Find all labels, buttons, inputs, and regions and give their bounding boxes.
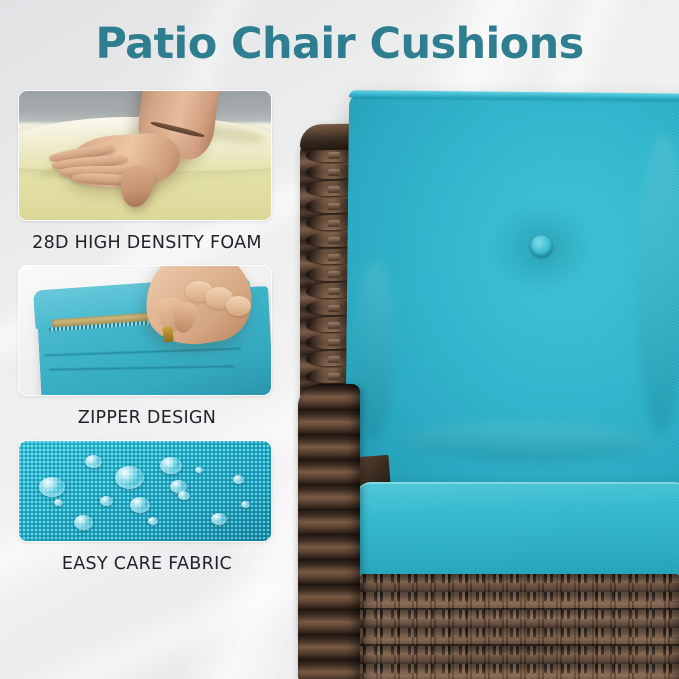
feature-item-zipper-design: ZIPPER DESIGN bbox=[18, 265, 276, 428]
wicker-node bbox=[328, 322, 340, 329]
wicker-node bbox=[328, 305, 340, 312]
feature-caption-fabric: EASY CARE FABRIC bbox=[18, 554, 276, 574]
water-droplet bbox=[211, 513, 227, 525]
wicker-node bbox=[328, 152, 340, 159]
wicker-node bbox=[328, 203, 340, 210]
wicker-node bbox=[328, 356, 340, 363]
cushion-fold bbox=[636, 133, 679, 434]
foam-thumbnail-image bbox=[18, 90, 272, 221]
patio-chair-product-photo bbox=[300, 84, 679, 679]
water-droplet bbox=[241, 501, 250, 508]
fabric-thumbnail-image bbox=[18, 440, 272, 542]
feature-item-high-density-foam: 28D HIGH DENSITY FOAM bbox=[18, 90, 276, 253]
feature-caption-zipper: ZIPPER DESIGN bbox=[18, 408, 276, 428]
feature-caption-foam: 28D HIGH DENSITY FOAM bbox=[18, 233, 276, 253]
wicker-front-arm-post bbox=[298, 384, 360, 679]
cushion-fold bbox=[405, 421, 655, 464]
wicker-node bbox=[328, 254, 340, 261]
wicker-node bbox=[328, 169, 340, 176]
feature-item-easy-care-fabric: EASY CARE FABRIC bbox=[18, 440, 276, 574]
water-droplet bbox=[148, 517, 158, 525]
wicker-weave-band bbox=[360, 610, 679, 619]
water-droplet bbox=[130, 497, 150, 513]
wicker-node bbox=[328, 373, 340, 380]
water-droplet bbox=[85, 455, 102, 468]
tuft-button bbox=[530, 235, 552, 257]
wicker-node bbox=[328, 339, 340, 346]
zipper-thumbnail-image bbox=[18, 265, 272, 396]
back-cushion bbox=[345, 90, 679, 492]
wicker-node bbox=[328, 220, 340, 227]
page-title: Patio Chair Cushions bbox=[0, 16, 679, 73]
wicker-node bbox=[328, 288, 340, 295]
water-droplet bbox=[115, 466, 144, 489]
chair-ground-shadow bbox=[362, 640, 679, 664]
zipper-pull-tab bbox=[162, 326, 174, 342]
water-droplet bbox=[100, 496, 113, 506]
cushion-piping bbox=[349, 90, 679, 101]
wicker-weave-band bbox=[360, 574, 679, 583]
feature-list: 28D HIGH DENSITY FOAM ZIP bbox=[18, 90, 276, 574]
wicker-weave-band bbox=[360, 628, 679, 637]
wicker-weave-band bbox=[360, 592, 679, 601]
knuckle bbox=[226, 296, 251, 317]
wicker-node bbox=[328, 271, 340, 278]
wicker-weave-band bbox=[360, 664, 679, 673]
wicker-node bbox=[328, 186, 340, 193]
wicker-node bbox=[328, 237, 340, 244]
product-marketing-image: Patio Chair Cushions 28D HIGH DENSITY bbox=[0, 0, 679, 679]
water-droplet bbox=[233, 475, 244, 484]
